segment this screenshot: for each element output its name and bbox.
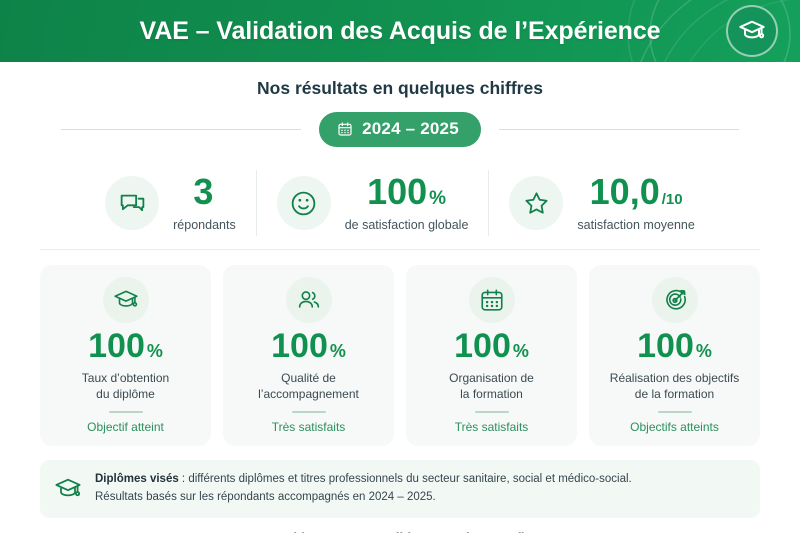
stat-value: 10,0 (590, 174, 660, 210)
rule-left (61, 129, 301, 130)
calendar-icon (479, 287, 505, 313)
card-tag: Objectifs atteints (630, 420, 719, 434)
card-tag: Très satisfaits (455, 420, 529, 434)
section-divider (40, 249, 760, 250)
card-tag: Objectif atteint (87, 420, 164, 434)
stat-icon-wrap (509, 176, 563, 230)
note-line-2: Résultats basés sur les répondants accom… (95, 489, 632, 507)
stat-value-row: 3 (193, 174, 215, 210)
stat-unit: % (429, 189, 446, 208)
note-line-1-bold: Diplômes visés (95, 473, 179, 485)
card-unit: % (696, 342, 712, 361)
card-divider (109, 411, 143, 413)
stat-unit: /10 (662, 192, 683, 207)
rule-right (499, 129, 739, 130)
card-divider (292, 411, 326, 413)
stat-value: 100 (367, 174, 427, 210)
calendar-icon (337, 121, 353, 137)
card-organisation-formation[interactable]: 100 % Organisation de la formation Très … (406, 265, 577, 446)
card-value-row: 100 % (454, 329, 529, 365)
card-label-line2: la formation (449, 386, 534, 402)
card-value-row: 100 % (271, 329, 346, 365)
note-line-1: Diplômes visés : différents diplômes et … (95, 471, 632, 489)
card-icon-wrap (469, 277, 515, 323)
section-subtitle: Nos résultats en quelques chiffres (40, 78, 760, 99)
star-icon (522, 189, 551, 218)
card-icon-wrap (286, 277, 332, 323)
stat-satisfaction-moyenne: 10,0 /10 satisfaction moyenne (489, 174, 714, 232)
card-value: 100 (454, 329, 511, 365)
stat-label: de satisfaction globale (345, 218, 469, 232)
stat-value-row: 10,0 /10 (590, 174, 683, 210)
card-icon-wrap (652, 277, 698, 323)
graduation-cap-icon (113, 287, 139, 313)
note-text: Diplômes visés : différents diplômes et … (95, 471, 632, 507)
stat-icon-wrap (277, 176, 331, 230)
card-label: Qualité de l’accompagnement (258, 370, 359, 402)
page-header: VAE – Validation des Acquis de l’Expérie… (0, 0, 800, 62)
people-icon (296, 287, 322, 313)
graduation-cap-icon (54, 475, 82, 503)
note-icon-wrap (54, 475, 82, 503)
card-value-row: 100 % (637, 329, 712, 365)
year-badge-label: 2024 – 2025 (362, 119, 459, 139)
smiley-face-icon (289, 189, 318, 218)
card-label-line1: Taux d’obtention (82, 370, 169, 386)
cards-row: 100 % Taux d’obtention du diplôme Object… (40, 265, 760, 446)
stat-text: 3 répondants (173, 174, 236, 232)
card-value: 100 (88, 329, 145, 365)
stat-label: satisfaction moyenne (577, 218, 694, 232)
card-label-line2: de la formation (610, 386, 739, 402)
card-tag: Très satisfaits (272, 420, 346, 434)
card-label-line1: Réalisation des objectifs (610, 370, 739, 386)
stat-text: 100 % de satisfaction globale (345, 174, 469, 232)
card-unit: % (330, 342, 346, 361)
card-unit: % (513, 342, 529, 361)
card-unit: % (147, 342, 163, 361)
card-value: 100 (271, 329, 328, 365)
card-label-line2: l’accompagnement (258, 386, 359, 402)
stats-row: 3 répondants 100 (40, 164, 760, 242)
stat-text: 10,0 /10 satisfaction moyenne (577, 174, 694, 232)
target-icon (662, 287, 688, 313)
stat-satisfaction-globale: 100 % de satisfaction globale (257, 174, 489, 232)
card-label-line1: Qualité de (258, 370, 359, 386)
card-divider (475, 411, 509, 413)
card-qualite-accompagnement[interactable]: 100 % Qualité de l’accompagnement Très s… (223, 265, 394, 446)
card-label-line1: Organisation de (449, 370, 534, 386)
year-badge[interactable]: 2024 – 2025 (319, 112, 481, 147)
infographic-page: VAE – Validation des Acquis de l’Expérie… (0, 0, 800, 533)
header-badge (726, 5, 778, 57)
note-line-1-rest: : différents diplômes et titres professi… (179, 473, 632, 485)
note-box: Diplômes visés : différents diplômes et … (40, 460, 760, 518)
card-value: 100 (637, 329, 694, 365)
card-icon-wrap (103, 277, 149, 323)
page-body: Nos résultats en quelques chiffres 2024 … (0, 62, 800, 533)
card-label: Réalisation des objectifs de la formatio… (610, 370, 739, 402)
card-value-row: 100 % (88, 329, 163, 365)
stat-icon-wrap (105, 176, 159, 230)
speech-bubble-icon (118, 189, 147, 218)
card-taux-obtention[interactable]: 100 % Taux d’obtention du diplôme Object… (40, 265, 211, 446)
card-realisation-objectifs[interactable]: 100 % Réalisation des objectifs de la fo… (589, 265, 760, 446)
year-row: 2024 – 2025 (40, 112, 760, 147)
card-label: Taux d’obtention du diplôme (82, 370, 169, 402)
card-divider (658, 411, 692, 413)
stat-value-row: 100 % (367, 174, 446, 210)
stat-value: 3 (193, 174, 213, 210)
graduation-cap-icon (738, 17, 766, 45)
stat-label: répondants (173, 218, 236, 232)
card-label-line2: du diplôme (82, 386, 169, 402)
card-label: Organisation de la formation (449, 370, 534, 402)
page-title: VAE – Validation des Acquis de l’Expérie… (140, 17, 661, 46)
stat-respondants: 3 répondants (85, 174, 256, 232)
